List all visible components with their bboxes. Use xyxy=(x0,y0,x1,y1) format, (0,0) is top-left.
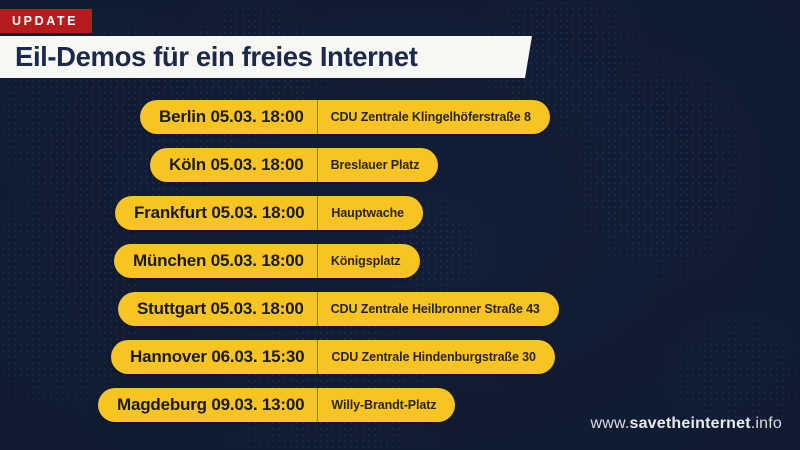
demo-location: Willy-Brandt-Platz xyxy=(318,388,455,422)
demo-row: München 05.03. 18:00Königsplatz xyxy=(0,244,800,278)
url-domain: savetheinternet xyxy=(629,415,750,432)
demo-row: Köln 05.03. 18:00Breslauer Platz xyxy=(0,148,800,182)
pill-divider xyxy=(317,292,318,326)
page-title: Eil-Demos für ein freies Internet xyxy=(15,41,417,73)
demo-pill[interactable]: Magdeburg 09.03. 13:00Willy-Brandt-Platz xyxy=(98,388,455,422)
demo-city-datetime: Stuttgart 05.03. 18:00 xyxy=(118,292,317,326)
demo-location: Breslauer Platz xyxy=(318,148,439,182)
demo-city-datetime: Frankfurt 05.03. 18:00 xyxy=(115,196,317,230)
website-url[interactable]: www.savetheinternet.info xyxy=(590,415,782,433)
pill-divider xyxy=(317,148,318,182)
headline-band: Eil-Demos für ein freies Internet xyxy=(0,36,532,78)
demo-location: CDU Zentrale Klingelhöferstraße 8 xyxy=(318,100,550,134)
demo-city-datetime: Köln 05.03. 18:00 xyxy=(150,148,317,182)
demo-row: Stuttgart 05.03. 18:00CDU Zentrale Heilb… xyxy=(0,292,800,326)
demo-pill[interactable]: Köln 05.03. 18:00Breslauer Platz xyxy=(150,148,438,182)
demo-location: Königsplatz xyxy=(318,244,420,278)
url-prefix: www. xyxy=(590,415,629,432)
pill-divider xyxy=(317,196,318,230)
demo-pill[interactable]: München 05.03. 18:00Königsplatz xyxy=(114,244,420,278)
demo-location: CDU Zentrale Heilbronner Straße 43 xyxy=(318,292,559,326)
demo-location: Hauptwache xyxy=(318,196,423,230)
pill-divider xyxy=(317,244,318,278)
demo-city-datetime: Magdeburg 09.03. 13:00 xyxy=(98,388,317,422)
demo-row: Berlin 05.03. 18:00CDU Zentrale Klingelh… xyxy=(0,100,800,134)
poster-canvas: UPDATE Eil-Demos für ein freies Internet… xyxy=(0,0,800,450)
demo-row: Hannover 06.03. 15:30CDU Zentrale Hinden… xyxy=(0,340,800,374)
url-tld: .info xyxy=(751,415,782,432)
pill-divider xyxy=(317,100,318,134)
demo-row: Frankfurt 05.03. 18:00Hauptwache xyxy=(0,196,800,230)
demo-pill[interactable]: Stuttgart 05.03. 18:00CDU Zentrale Heilb… xyxy=(118,292,559,326)
demo-pill[interactable]: Frankfurt 05.03. 18:00Hauptwache xyxy=(115,196,423,230)
pill-divider xyxy=(317,388,318,422)
demo-city-datetime: Hannover 06.03. 15:30 xyxy=(111,340,317,374)
demo-city-datetime: Berlin 05.03. 18:00 xyxy=(140,100,317,134)
demo-list: Berlin 05.03. 18:00CDU Zentrale Klingelh… xyxy=(0,100,800,436)
update-badge: UPDATE xyxy=(0,9,92,33)
pill-divider xyxy=(317,340,318,374)
demo-location: CDU Zentrale Hindenburgstraße 30 xyxy=(318,340,554,374)
demo-pill[interactable]: Berlin 05.03. 18:00CDU Zentrale Klingelh… xyxy=(140,100,550,134)
demo-city-datetime: München 05.03. 18:00 xyxy=(114,244,317,278)
demo-pill[interactable]: Hannover 06.03. 15:30CDU Zentrale Hinden… xyxy=(111,340,555,374)
